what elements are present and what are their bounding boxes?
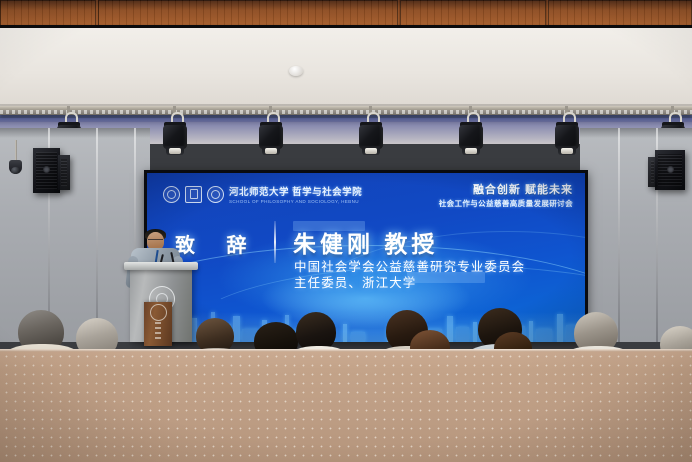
left-wall [0, 128, 150, 342]
stage-spotlight [458, 112, 484, 156]
wood-ceiling-panel [0, 0, 692, 26]
ceiling-soffit [0, 28, 692, 110]
pa-speaker [648, 157, 657, 187]
led-screen: 河北师范大学 哲学与社会学院 School of Philosophy and … [147, 173, 585, 342]
foreground-perforated-panel [0, 349, 692, 462]
track-reflector [0, 110, 692, 114]
banner-label [155, 322, 161, 342]
pa-speaker [33, 148, 60, 193]
stage-spotlight [358, 112, 384, 156]
conference-hall-photo: 河北师范大学 哲学与社会学院 School of Philosophy and … [0, 0, 692, 462]
glasses-icon [148, 239, 163, 244]
stage-spotlight [554, 112, 580, 156]
pa-speaker [58, 155, 70, 190]
stage-spotlight [258, 112, 284, 156]
smoke-detector-icon [289, 66, 303, 76]
cctv-camera-icon [9, 160, 22, 174]
pa-speaker [655, 150, 685, 190]
led-screen-bezel: 河北师范大学 哲学与社会学院 School of Philosophy and … [144, 170, 588, 342]
university-seal-icon [150, 304, 167, 321]
stage-spotlight [162, 112, 188, 156]
wooden-banner-column [144, 302, 172, 346]
camera-mount-pole [15, 140, 17, 162]
podium-top-surface [124, 262, 198, 270]
